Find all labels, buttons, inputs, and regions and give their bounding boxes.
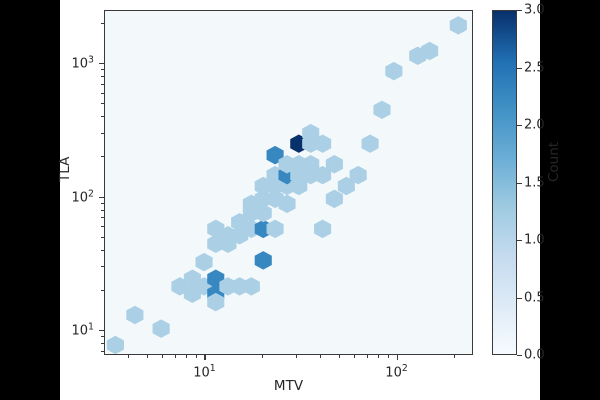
x-tick-major (204, 355, 205, 360)
y-tick-major (99, 197, 104, 198)
hexbin-cell (373, 101, 390, 119)
hexbin-cell (243, 277, 260, 295)
colorbar-tick-label: 1.5 (524, 175, 545, 190)
colorbar-tick (517, 240, 522, 241)
hexbin-cell (267, 220, 284, 238)
y-tick-minor (101, 103, 104, 104)
y-tick-minor (101, 156, 104, 157)
hexbin-cell (326, 190, 343, 208)
y-tick-minor (101, 250, 104, 251)
hexbin-cell (107, 336, 124, 354)
x-tick-minor (162, 355, 163, 358)
y-tick-minor (101, 237, 104, 238)
colorbar-tick (517, 10, 522, 11)
colorbar-tick-label: 0.5 (524, 290, 545, 305)
y-tick-major (99, 63, 104, 64)
figure-canvas: 101102103 101102 MTV TLA 0.00.51.01.52.0… (60, 0, 540, 400)
hexbin-cell (255, 251, 272, 269)
y-tick-minor (101, 290, 104, 291)
x-tick-minor (388, 355, 389, 358)
y-tick-minor (101, 343, 104, 344)
x-axis-label: MTV (104, 378, 473, 394)
hexbin-cell (385, 62, 402, 80)
x-tick-minor (378, 355, 379, 358)
colorbar-label: Count (546, 142, 562, 182)
x-tick-major (397, 355, 398, 360)
hexbin-cell (126, 306, 143, 324)
y-tick-minor (101, 266, 104, 267)
hexbin-cell (362, 134, 379, 152)
y-tick-minor (101, 336, 104, 337)
x-tick-minor (147, 355, 148, 358)
plot-area (104, 10, 473, 355)
hexbin-cell (314, 220, 331, 238)
x-tick-minor (262, 355, 263, 358)
y-axis-label: TLA (57, 157, 73, 182)
x-tick-minor (128, 355, 129, 358)
y-tick-minor (101, 217, 104, 218)
y-tick-minor (101, 69, 104, 70)
colorbar-tick-label: 0.0 (524, 348, 545, 363)
colorbar-tick (517, 298, 522, 299)
colorbar-tick-label: 3.0 (524, 3, 545, 18)
y-tick-label: 103 (60, 54, 94, 71)
y-tick-minor (101, 226, 104, 227)
y-tick-minor (101, 116, 104, 117)
y-tick-minor (101, 76, 104, 77)
colorbar-tick-label: 2.0 (524, 118, 545, 133)
hexbin-cell (450, 16, 467, 34)
y-tick-minor (101, 93, 104, 94)
y-tick-major (99, 330, 104, 331)
x-tick-minor (339, 355, 340, 358)
y-tick-label: 101 (60, 321, 94, 338)
x-tick-minor (196, 355, 197, 358)
x-tick-minor (175, 355, 176, 358)
colorbar-tick-label: 2.5 (524, 60, 545, 75)
y-tick-minor (101, 203, 104, 204)
x-tick-minor (454, 355, 455, 358)
y-tick-minor (101, 23, 104, 24)
y-tick-minor (101, 210, 104, 211)
y-tick-label: 102 (60, 188, 94, 205)
x-tick-minor (320, 355, 321, 358)
hexbin-cell (153, 319, 170, 337)
colorbar-tick-label: 1.0 (524, 233, 545, 248)
hexbin-cell (196, 253, 213, 271)
x-tick-minor (367, 355, 368, 358)
colorbar (492, 10, 517, 355)
x-tick-minor (354, 355, 355, 358)
y-tick-minor (101, 84, 104, 85)
colorbar-tick (517, 125, 522, 126)
colorbar-tick (517, 355, 522, 356)
colorbar-tick (517, 68, 522, 69)
colorbar-tick (517, 183, 522, 184)
x-tick-minor (296, 355, 297, 358)
y-tick-minor (101, 133, 104, 134)
hexbin-layer (105, 11, 472, 354)
y-tick-minor (101, 351, 104, 352)
screenshot-root: 101102103 101102 MTV TLA 0.00.51.01.52.0… (0, 0, 600, 400)
x-tick-minor (186, 355, 187, 358)
